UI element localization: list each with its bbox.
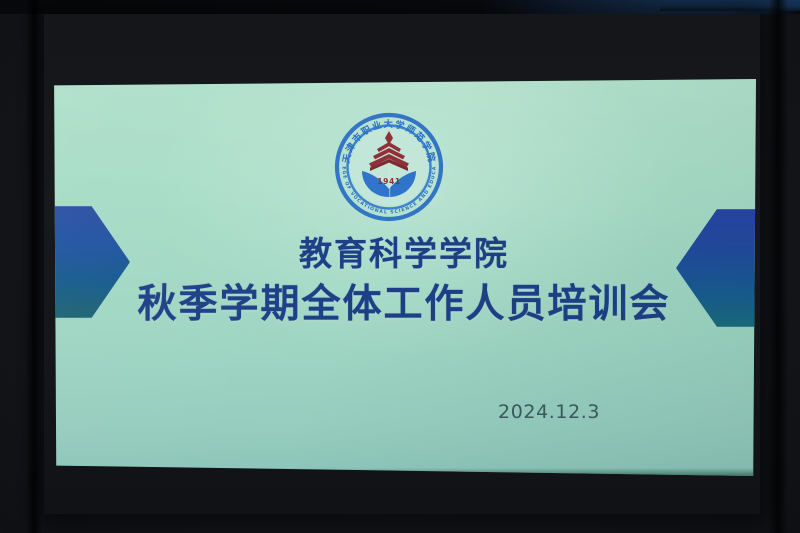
wall-seam-left (26, 0, 42, 533)
slide-date: 2024.12.3 (498, 401, 678, 423)
slide-title-line-2: 秋季学期全体工作人员培训会 (52, 279, 756, 331)
slide-title-line-1: 教育科学学院 (52, 231, 756, 277)
meeting-room-scene: 天津市职业大学师范学院 COLLEGE OF VOCATIONAL SCIENC… (0, 0, 800, 533)
emblem-year-text: 1941 (377, 177, 401, 186)
wall-seam-right (768, 0, 788, 533)
slide-content: 天津市职业大学师范学院 COLLEGE OF VOCATIONAL SCIENC… (52, 79, 756, 480)
projected-slide: 天津市职业大学师范学院 COLLEGE OF VOCATIONAL SCIENC… (52, 79, 756, 480)
college-emblem-logo: 天津市职业大学师范学院 COLLEGE OF VOCATIONAL SCIENC… (333, 111, 445, 223)
slide-title-block: 教育科学学院 秋季学期全体工作人员培训会 (52, 231, 756, 331)
